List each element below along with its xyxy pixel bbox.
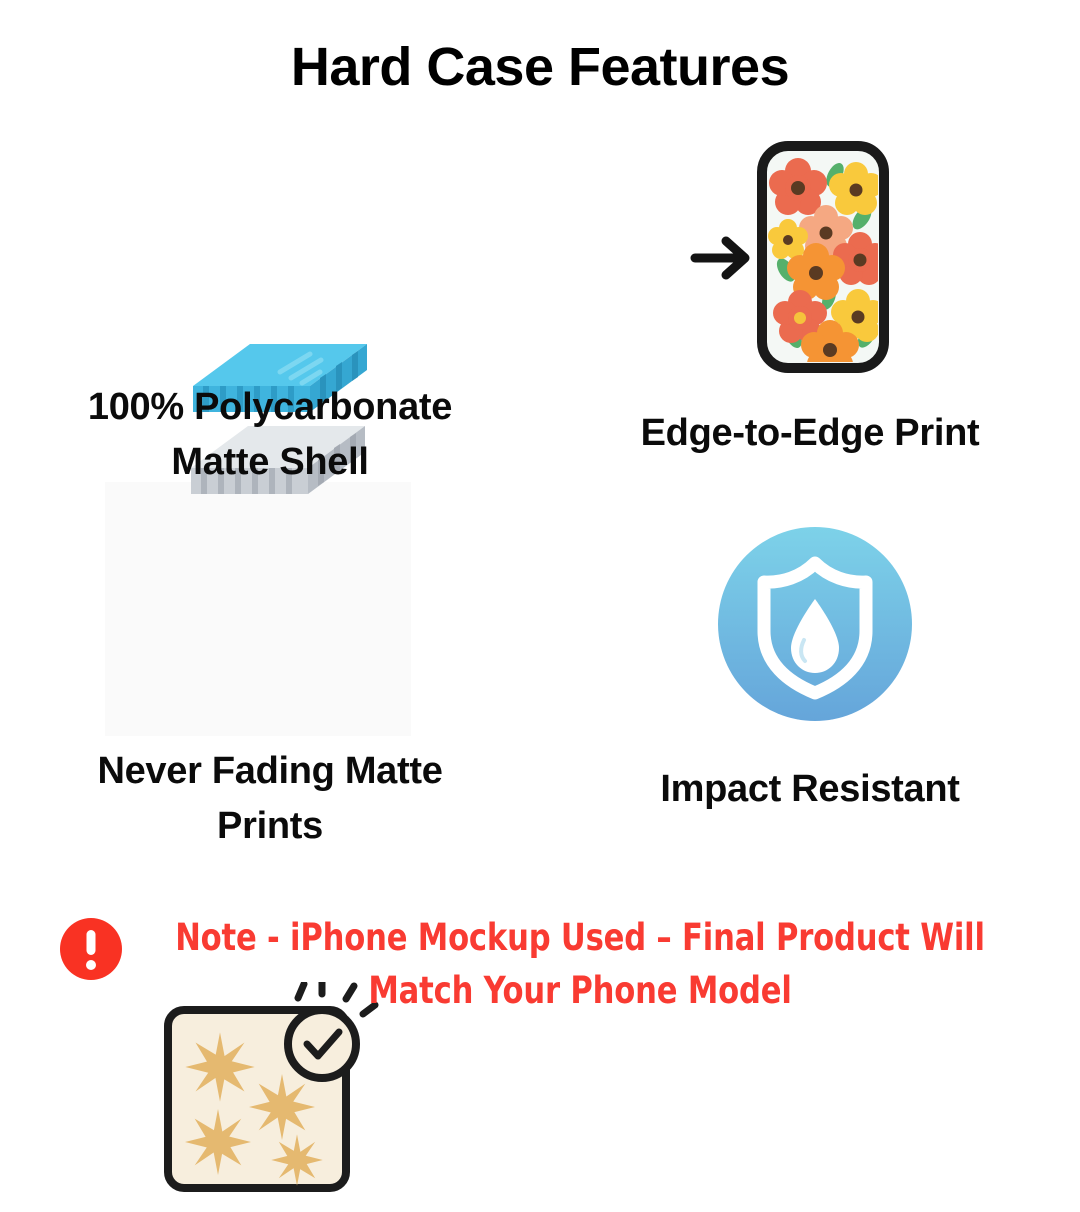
feature-label-edge-to-edge: Edge-to-Edge Print [560,406,1060,461]
feature-infographic: Hard Case Features [0,0,1080,1080]
label-line-1: 100% Polycarbonate [20,380,520,435]
feature-polycarbonate-shell: 100% Polycarbonate Matte Shell [0,160,540,490]
note-text: Note - iPhone Mockup Used – Final Produc… [175,912,985,1017]
feature-label-never-fading: Never Fading Matte Prints [20,744,520,854]
feature-label-impact-resistant: Impact Resistant [560,762,1060,817]
feature-label-polycarbonate: 100% Polycarbonate Matte Shell [20,380,520,490]
feature-never-fading-prints: Never Fading Matte Prints [0,482,540,862]
arrow-right-icon [695,241,745,275]
note-line-2: Match Your Phone Model [175,965,985,1018]
label-line-1: Impact Resistant [560,762,1060,817]
phone-floral-print-icon [690,140,920,375]
feature-impact-resistant: Impact Resistant [540,500,1080,840]
disclaimer-note: Note - iPhone Mockup Used – Final Produc… [0,912,1080,1017]
exclamation-circle-icon [60,918,122,980]
note-line-1: Note - iPhone Mockup Used – Final Produc… [175,912,985,965]
feature-edge-to-edge-print: Edge-to-Edge Print [540,130,1080,460]
shield-droplet-icon [718,527,912,721]
label-line-1: Edge-to-Edge Print [560,406,1060,461]
label-line-2: Prints [20,799,520,854]
page-title: Hard Case Features [0,36,1080,98]
label-line-1: Never Fading Matte [20,744,520,799]
